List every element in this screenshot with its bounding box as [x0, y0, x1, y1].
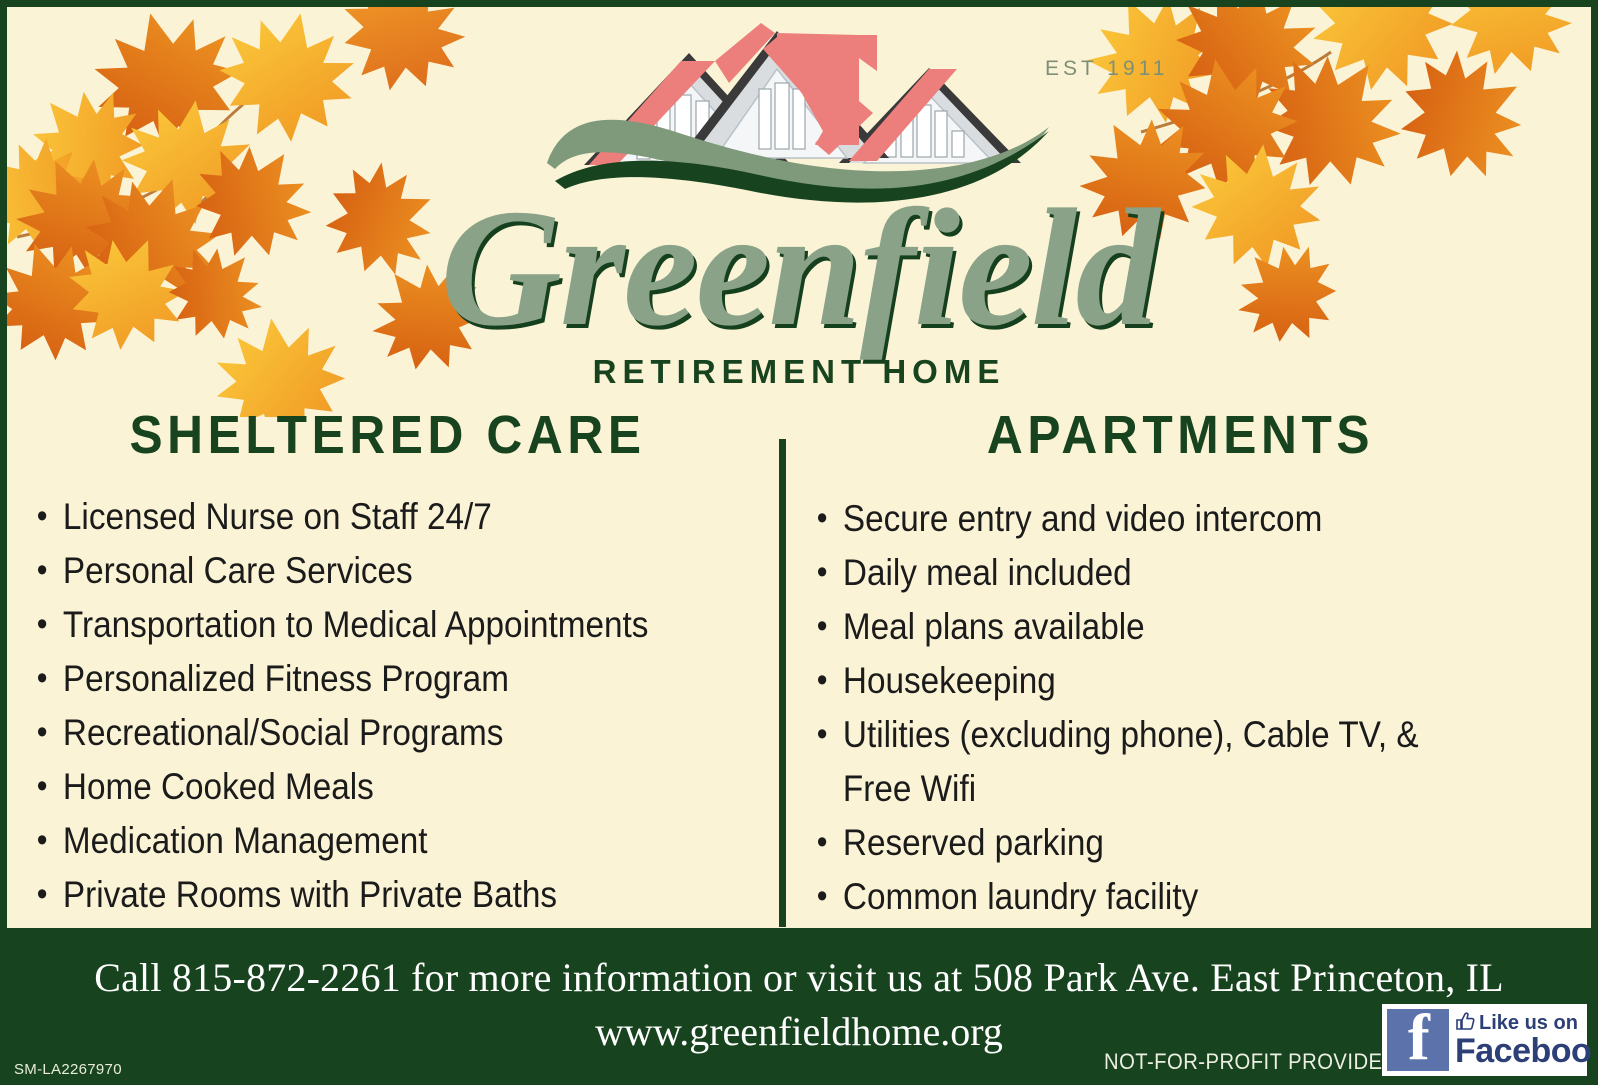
- list-item: Reserved parking: [815, 816, 1472, 870]
- advertisement-card: EST 1911 Greenfield RETIREMENT HOME SHEL…: [0, 0, 1598, 1085]
- list-item: Secure entry and video intercom: [815, 492, 1472, 546]
- list-item: Recreational/Social Programs: [35, 706, 648, 760]
- list-item: Utilities (excluding phone), Cable TV, &…: [815, 708, 1455, 816]
- facebook-like-row: Like us on: [1455, 1012, 1598, 1034]
- list-item: Common laundry facility: [815, 870, 1472, 924]
- list-item: Daily meal included: [815, 546, 1472, 600]
- facebook-badge-text: Like us on Facebook: [1455, 1012, 1598, 1068]
- list-item: Medication Management: [35, 814, 648, 868]
- list-item: Housekeeping: [815, 654, 1472, 708]
- logo-block: EST 1911 Greenfield RETIREMENT HOME: [7, 13, 1591, 413]
- website-link[interactable]: www.greenfieldhome.org: [0, 1008, 1598, 1055]
- column-divider: [779, 439, 786, 927]
- list-item: Home Cooked Meals: [35, 760, 648, 814]
- sheltered-care-list: Licensed Nurse on Staff 24/7 Personal Ca…: [35, 490, 717, 922]
- feature-columns: SHELTERED CARE APARTMENTS Licensed Nurse…: [7, 392, 1591, 927]
- facebook-badge[interactable]: Like us on Facebook: [1382, 1004, 1587, 1076]
- brand-subtitle: RETIREMENT HOME: [593, 353, 1006, 391]
- contact-line: Call 815-872-2261 for more information o…: [0, 954, 1598, 1001]
- list-item: Meal plans available: [815, 600, 1472, 654]
- list-item: Personal Care Services: [35, 544, 648, 598]
- list-item: Personalized Fitness Program: [35, 652, 648, 706]
- not-for-profit-label: NOT-FOR-PROFIT PROVIDER: [1104, 1049, 1398, 1075]
- apartments-heading: APARTMENTS: [987, 404, 1374, 466]
- facebook-name-text: Facebook: [1455, 1034, 1598, 1068]
- facebook-f-icon: [1387, 1009, 1449, 1071]
- brand-name: Greenfield: [440, 193, 1157, 343]
- footer-bar: Call 815-872-2261 for more information o…: [0, 928, 1598, 1085]
- list-item: Transportation to Medical Appointments: [35, 598, 648, 652]
- list-item: Licensed Nurse on Staff 24/7: [35, 490, 648, 544]
- sheltered-care-heading: SHELTERED CARE: [129, 404, 645, 466]
- thumbs-up-icon: [1455, 1012, 1475, 1034]
- facebook-like-text: Like us on: [1479, 1013, 1578, 1033]
- ad-code: SM-LA2267970: [14, 1061, 122, 1078]
- established-year: EST 1911: [1045, 57, 1168, 81]
- list-item: Private Rooms with Private Baths: [35, 868, 648, 922]
- apartments-list: Secure entry and video intercom Daily me…: [815, 492, 1545, 978]
